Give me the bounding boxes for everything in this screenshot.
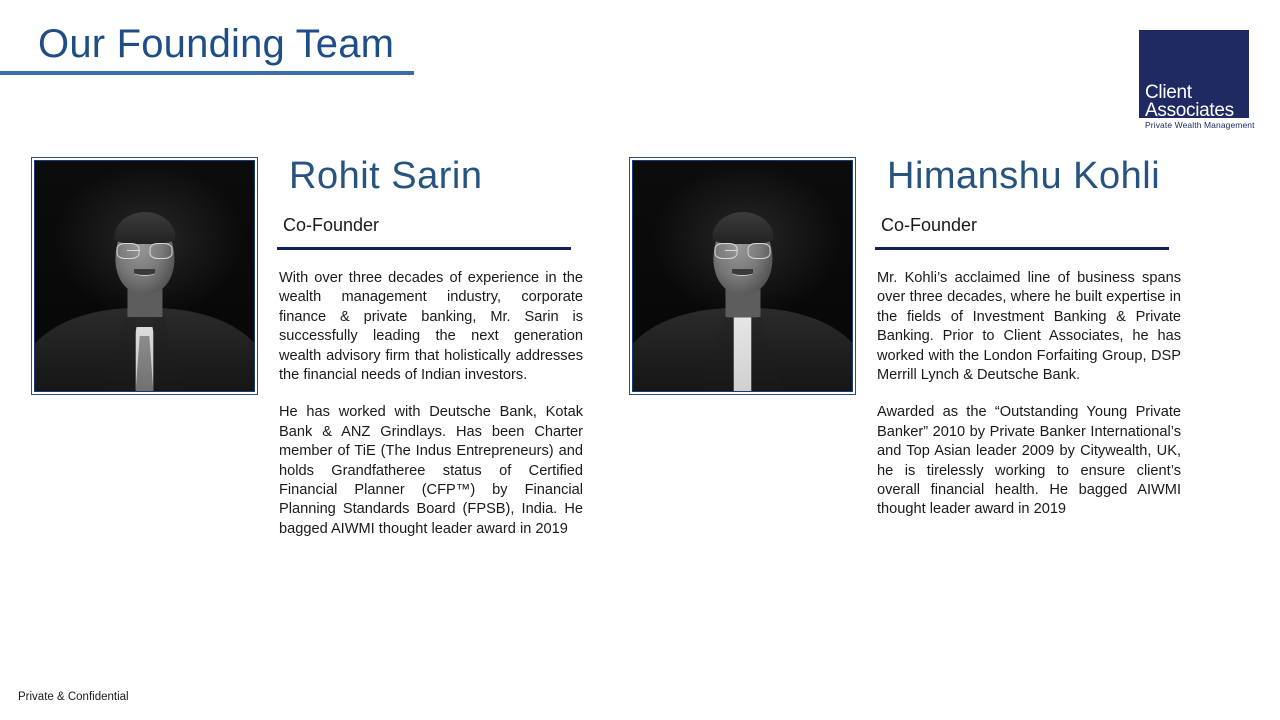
- logo-box: Client Associates: [1139, 30, 1249, 118]
- bio-paragraph: With over three decades of experience in…: [279, 269, 583, 385]
- bio-paragraph: Mr. Kohli’s acclaimed line of business s…: [877, 269, 1181, 385]
- person-bio: With over three decades of experience in…: [279, 269, 583, 539]
- footer-confidentiality-note: Private & Confidential: [18, 691, 129, 703]
- person-bio: Mr. Kohli’s acclaimed line of business s…: [877, 269, 1181, 520]
- portrait-hair: [114, 212, 175, 244]
- company-logo: Client Associates Private Wealth Managem…: [1139, 30, 1249, 129]
- portrait-photo: [34, 160, 255, 392]
- bio-paragraph: He has worked with Deutsche Bank, Kotak …: [279, 403, 583, 539]
- person-role: Co-Founder: [881, 215, 977, 236]
- person-divider-rule: [277, 247, 571, 250]
- person-name: Himanshu Kohli: [887, 155, 1160, 198]
- portrait-photo-frame: [629, 157, 856, 395]
- portrait-smile: [732, 269, 754, 276]
- glasses-icon: [714, 243, 771, 259]
- glasses-bridge: [725, 250, 738, 251]
- title-underline-rule: [0, 71, 414, 75]
- portrait-photo-frame: [31, 157, 258, 395]
- glasses-bridge: [127, 250, 140, 251]
- person-role: Co-Founder: [283, 215, 379, 236]
- person-name: Rohit Sarin: [289, 155, 482, 198]
- page-title: Our Founding Team: [38, 22, 394, 66]
- portrait-smile: [134, 269, 156, 276]
- bio-paragraph: Awarded as the “Outstanding Young Privat…: [877, 403, 1181, 519]
- portrait-photo: [632, 160, 853, 392]
- logo-line-2: Associates: [1145, 100, 1234, 122]
- glasses-icon: [116, 243, 173, 259]
- person-divider-rule: [875, 247, 1169, 250]
- portrait-image-rohit-sarin: [35, 161, 254, 391]
- portrait-hair: [712, 212, 773, 244]
- portrait-image-himanshu-kohli: [633, 161, 852, 391]
- logo-tagline: Private Wealth Management: [1145, 120, 1255, 130]
